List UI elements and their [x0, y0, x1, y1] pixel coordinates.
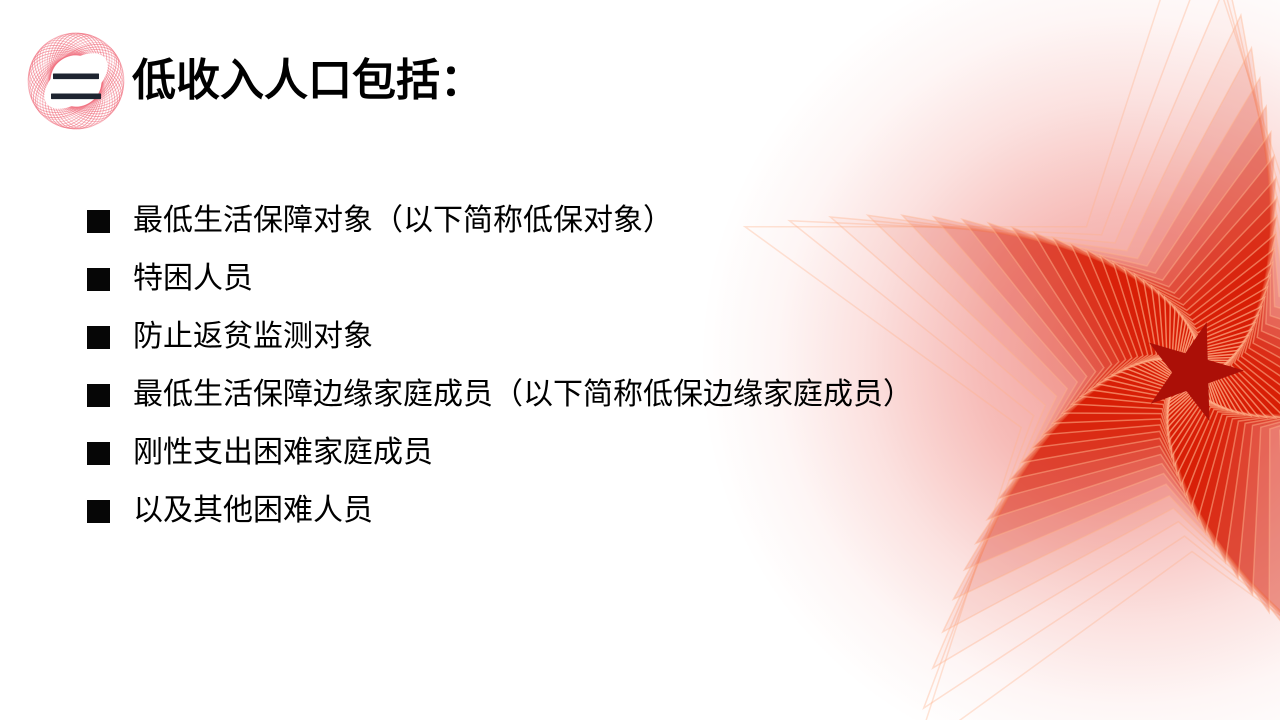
star-ring	[1147, 325, 1236, 411]
list-item: 刚性支出困难家庭成员	[87, 424, 1097, 482]
list-item-label: 最低生活保障边缘家庭成员（以下简称低保边缘家庭成员）	[133, 378, 913, 412]
square-bullet-icon	[87, 268, 110, 291]
star-ring	[1159, 336, 1227, 402]
star-ring	[1142, 321, 1238, 416]
slide-canvas: 低收入人口包括： 最低生活保障对象（以下简称低保对象） 特困人员 防止返贫监测对…	[0, 0, 1280, 720]
list-item: 最低生活保障对象（以下简称低保对象）	[87, 192, 1097, 250]
star-ring	[1168, 345, 1219, 397]
spiral-ellipse-logo	[24, 29, 128, 133]
star-ring	[1098, 286, 1275, 465]
star-ring	[1137, 317, 1242, 422]
star-ring	[1126, 308, 1248, 434]
star-ring	[1072, 268, 1280, 496]
list-item-label: 最低生活保障对象（以下简称低保对象）	[133, 204, 673, 238]
list-item: 防止返贫监测对象	[87, 308, 1097, 366]
star-ring	[1162, 339, 1224, 400]
square-bullet-icon	[87, 442, 110, 465]
list-item: 以及其他困难人员	[87, 482, 1097, 540]
list-item: 特困人员	[87, 250, 1097, 308]
star-core	[1149, 322, 1244, 421]
star-ring	[1081, 274, 1280, 485]
list-item-label: 防止返贫监测对象	[133, 320, 373, 354]
star-ring	[1131, 312, 1244, 427]
star-ring	[1090, 280, 1280, 475]
square-bullet-icon	[87, 500, 110, 523]
list-item-label: 特困人员	[133, 262, 253, 296]
star-ring	[1155, 333, 1229, 404]
star-ring	[1151, 329, 1232, 407]
star-ring	[1105, 292, 1266, 457]
square-bullet-icon	[87, 384, 110, 407]
bullet-list: 最低生活保障对象（以下简称低保对象） 特困人员 防止返贫监测对象 最低生活保障边…	[87, 192, 1097, 540]
star-ring	[1113, 297, 1258, 448]
star-ring	[1119, 303, 1251, 441]
list-item-label: 以及其他困难人员	[133, 494, 373, 528]
star-ring	[1171, 348, 1217, 396]
star-ring	[1165, 342, 1221, 398]
square-bullet-icon	[87, 210, 110, 233]
list-item-label: 刚性支出困难家庭成员	[133, 436, 433, 470]
list-item: 最低生活保障边缘家庭成员（以下简称低保边缘家庭成员）	[87, 366, 1097, 424]
slide-header: 低收入人口包括：	[24, 22, 484, 140]
square-bullet-icon	[87, 326, 110, 349]
page-title: 低收入人口包括：	[132, 59, 484, 103]
